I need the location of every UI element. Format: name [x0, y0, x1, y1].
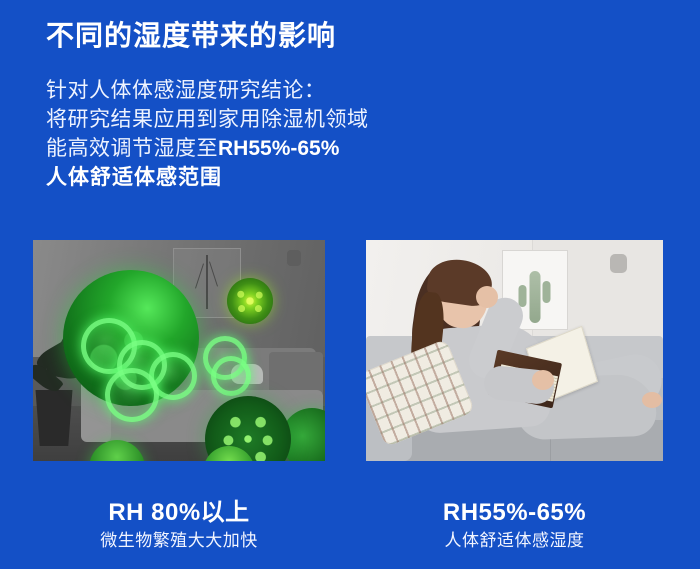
- bright-room-scene: [366, 240, 663, 461]
- photo-comfort-humidity: [366, 240, 663, 461]
- photo-high-humidity: [33, 240, 325, 461]
- wall-knob-dark: [287, 250, 301, 266]
- body-line-2: 将研究结果应用到家用除湿机领域: [46, 105, 369, 134]
- body-line-3: 能高效调节湿度至RH55%-65%: [46, 134, 369, 163]
- dark-room-scene: [33, 240, 325, 461]
- microbe-cell: [105, 368, 159, 422]
- page-title: 不同的湿度带来的影响: [46, 18, 336, 54]
- plant-pot: [33, 390, 75, 446]
- woman-foot: [642, 392, 662, 408]
- cactus-art-icon: [530, 271, 541, 323]
- poster-root: 不同的湿度带来的影响 针对人体体感湿度研究结论： 将研究结果应用到家用除湿机领域…: [0, 0, 700, 569]
- woman-hand-at-face: [476, 286, 498, 308]
- body-line-4: 人体舒适体感范围: [46, 163, 369, 192]
- caption-comfort-humidity: RH55%-65% 人体舒适体感湿度: [366, 498, 663, 554]
- body-line-3-prefix: 能高效调节湿度至: [46, 137, 218, 160]
- caption-sub-left: 微生物繁殖大大加快: [33, 528, 325, 554]
- caption-title-left: RH 80%以上: [33, 498, 325, 528]
- microbe-cell: [211, 356, 251, 396]
- wall-knob-light: [610, 254, 627, 273]
- microbe-virus-yellow: [227, 278, 273, 324]
- woman-hand-on-book: [532, 370, 554, 390]
- caption-sub-right: 人体舒适体感湿度: [366, 528, 663, 554]
- caption-high-humidity: RH 80%以上 微生物繁殖大大加快: [33, 498, 325, 554]
- caption-title-right: RH55%-65%: [366, 498, 663, 528]
- body-line-3-highlight: RH55%-65%: [218, 137, 339, 160]
- branch-art-icon: [206, 255, 208, 309]
- body-copy: 针对人体体感湿度研究结论： 将研究结果应用到家用除湿机领域 能高效调节湿度至RH…: [46, 76, 369, 192]
- body-line-1: 针对人体体感湿度研究结论：: [46, 76, 369, 105]
